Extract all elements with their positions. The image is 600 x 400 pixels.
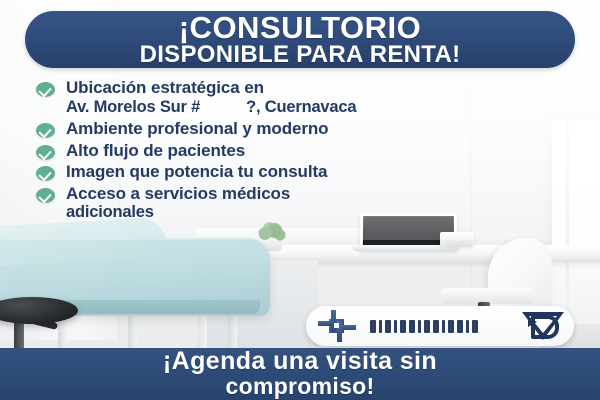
stool-stem bbox=[14, 322, 24, 348]
address-city: ?, Cuernavaca bbox=[246, 98, 356, 116]
list-item-text: Acceso a servicios médicos adicionales bbox=[66, 184, 290, 223]
check-circle-icon bbox=[36, 145, 55, 160]
list-item: Imagen que potencia tu consulta bbox=[36, 162, 566, 182]
list-item-label: Acceso a servicios médicos bbox=[66, 184, 290, 203]
list-item: Alto flujo de pacientes bbox=[36, 141, 566, 161]
check-circle-icon bbox=[36, 82, 55, 97]
header-title-line2: DISPONIBLE PARA RENTA! bbox=[140, 42, 461, 67]
list-item: Ubicación estratégica en Av. Morelos Sur… bbox=[36, 78, 566, 117]
list-item: Acceso a servicios médicos adicionales bbox=[36, 184, 566, 223]
contact-logo-bar bbox=[306, 306, 574, 346]
check-circle-icon bbox=[36, 188, 55, 203]
check-circle-icon bbox=[36, 123, 55, 138]
list-item: Ambiente profesional y moderno bbox=[36, 119, 566, 139]
list-item-label: Imagen que potencia tu consulta bbox=[66, 162, 327, 182]
header-banner: ¡CONSULTORIO DISPONIBLE PARA RENTA! bbox=[25, 11, 575, 68]
footer-banner: ¡Agenda una visita sin compromiso! bbox=[0, 348, 600, 400]
header-title-line1: ¡CONSULTORIO bbox=[179, 13, 422, 42]
list-item-label-cont: adicionales bbox=[66, 203, 290, 223]
redacted-contact-text bbox=[370, 320, 510, 333]
poster-advertisement: ¡CONSULTORIO DISPONIBLE PARA RENTA! Ubic… bbox=[0, 0, 600, 400]
feature-list: Ubicación estratégica en Av. Morelos Sur… bbox=[36, 78, 566, 225]
medical-cross-icon bbox=[318, 310, 356, 342]
list-item-address: Av. Morelos Sur #?, Cuernavaca bbox=[66, 98, 356, 118]
redacted-number bbox=[200, 101, 246, 114]
list-item-label: Ubicación estratégica en bbox=[66, 78, 264, 97]
footer-line1: ¡Agenda una visita sin bbox=[163, 349, 437, 374]
list-item-label: Ambiente profesional y moderno bbox=[66, 119, 328, 139]
footer-line2: compromiso! bbox=[226, 374, 375, 399]
address-street: Av. Morelos Sur # bbox=[66, 98, 200, 116]
shield-logo-icon bbox=[522, 310, 564, 342]
check-circle-icon bbox=[36, 166, 55, 181]
list-item-label: Alto flujo de pacientes bbox=[66, 141, 245, 161]
list-item-text: Ubicación estratégica en Av. Morelos Sur… bbox=[66, 78, 356, 117]
